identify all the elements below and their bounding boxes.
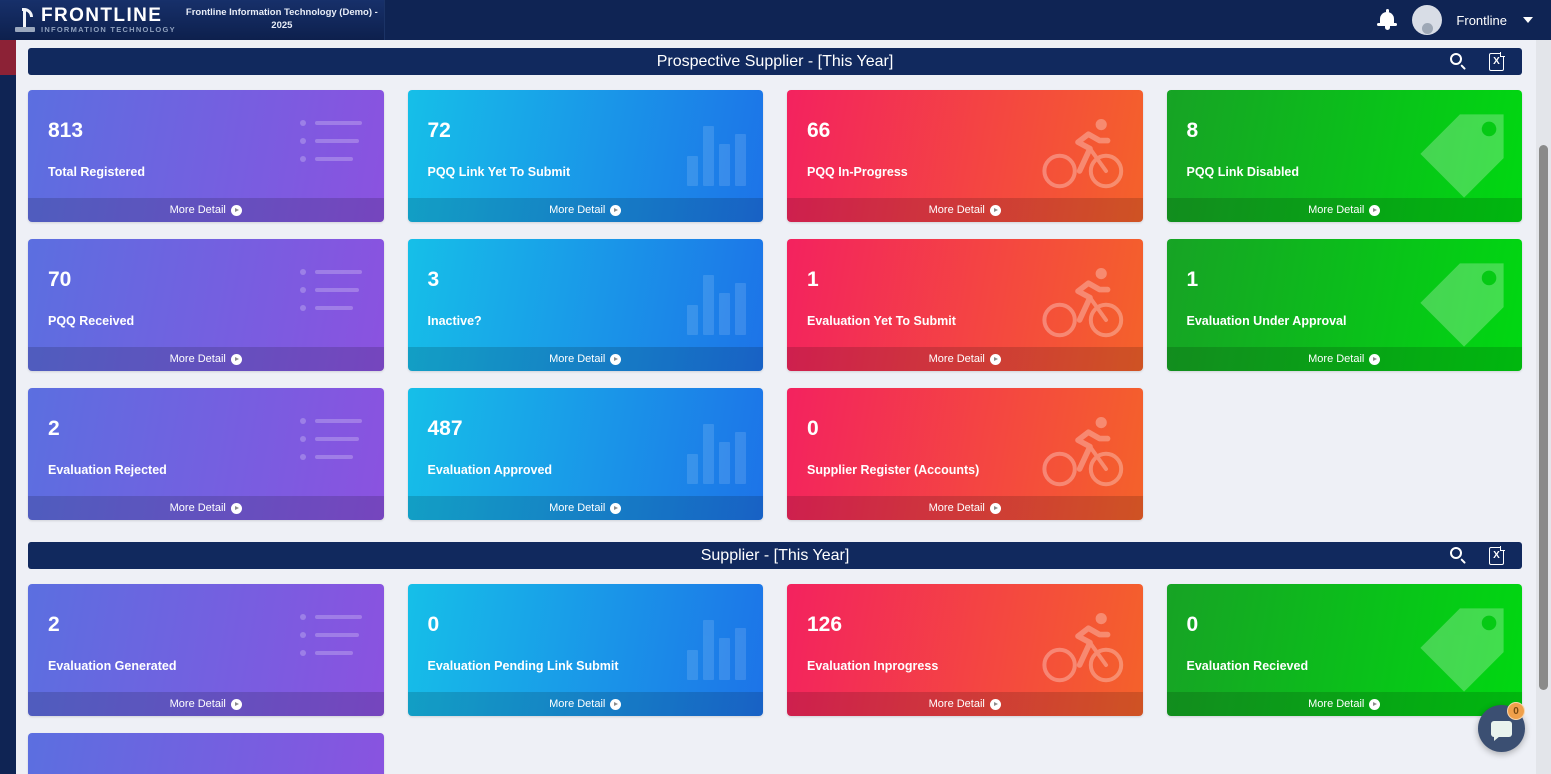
more-detail-button[interactable]: More Detail bbox=[787, 347, 1143, 371]
chat-bubble-icon bbox=[1491, 721, 1512, 737]
scrollbar-thumb[interactable] bbox=[1539, 145, 1548, 690]
arrow-right-icon bbox=[610, 354, 621, 365]
avatar[interactable] bbox=[1412, 5, 1442, 35]
logo-title: FRONTLINE bbox=[41, 6, 176, 25]
section-title: Prospective Supplier - [This Year] bbox=[28, 53, 1522, 71]
search-icon[interactable] bbox=[1450, 547, 1467, 564]
stat-card[interactable]: 1 Evaluation Under Approval More Detail bbox=[1167, 239, 1523, 371]
card-grid-prospective-supplier: 813 Total Registered More Detail 72 PQQ … bbox=[28, 90, 1522, 520]
arrow-right-icon bbox=[990, 205, 1001, 216]
stat-label: Evaluation Pending Link Submit bbox=[428, 660, 619, 673]
bar-chart-icon bbox=[687, 416, 747, 484]
user-name[interactable]: Frontline bbox=[1456, 13, 1507, 28]
arrow-right-icon bbox=[990, 354, 1001, 365]
more-detail-label: More Detail bbox=[549, 502, 605, 514]
more-detail-label: More Detail bbox=[929, 698, 985, 710]
brand-area: FRONTLINE INFORMATION TECHNOLOGY Frontli… bbox=[0, 0, 385, 40]
grid-empty-slot bbox=[1167, 388, 1523, 520]
stat-card[interactable]: 126 Evaluation Inprogress More Detail bbox=[787, 584, 1143, 716]
arrow-right-icon bbox=[610, 503, 621, 514]
bar-chart-icon bbox=[687, 118, 747, 186]
stat-label: Supplier Register (Accounts) bbox=[807, 464, 979, 477]
bicycle-icon bbox=[1039, 413, 1125, 493]
stat-value: 126 bbox=[807, 614, 842, 635]
more-detail-button[interactable]: More Detail bbox=[787, 692, 1143, 716]
company-title: Frontline Information Technology (Demo) … bbox=[182, 7, 382, 33]
stat-value: 813 bbox=[48, 120, 83, 141]
more-detail-button[interactable]: More Detail bbox=[28, 692, 384, 716]
arrow-right-icon bbox=[231, 699, 242, 710]
stat-value: 1 bbox=[807, 269, 819, 290]
more-detail-label: More Detail bbox=[549, 353, 605, 365]
stat-card[interactable]: 813 Total Registered More Detail bbox=[28, 90, 384, 222]
arrow-right-icon bbox=[231, 205, 242, 216]
section-tools: X bbox=[1450, 53, 1522, 71]
list-icon bbox=[300, 418, 362, 472]
stat-value: 72 bbox=[428, 120, 451, 141]
stat-card[interactable]: 72 PQQ Link Yet To Submit More Detail bbox=[408, 90, 764, 222]
top-navigation-bar: FRONTLINE INFORMATION TECHNOLOGY Frontli… bbox=[0, 0, 1551, 40]
chat-unread-badge: 0 bbox=[1507, 702, 1525, 720]
more-detail-label: More Detail bbox=[929, 204, 985, 216]
card-grid-supplier: 2 Evaluation Generated More Detail 0 Eva… bbox=[28, 584, 1522, 774]
stat-card[interactable]: 0 Evaluation Recieved More Detail bbox=[1167, 584, 1523, 716]
more-detail-label: More Detail bbox=[1308, 698, 1364, 710]
more-detail-label: More Detail bbox=[549, 204, 605, 216]
bicycle-icon bbox=[1039, 609, 1125, 689]
stat-value: 70 bbox=[48, 269, 71, 290]
list-icon bbox=[300, 269, 362, 323]
arrow-right-icon bbox=[990, 503, 1001, 514]
stat-label: Evaluation Recieved bbox=[1187, 660, 1309, 673]
dashboard-content: Prospective Supplier - [This Year] X 813… bbox=[16, 40, 1538, 774]
more-detail-button[interactable]: More Detail bbox=[1167, 198, 1523, 222]
stat-value: 2 bbox=[48, 614, 60, 635]
stat-card[interactable]: 8 PQQ Link Disabled More Detail bbox=[1167, 90, 1523, 222]
stat-value: 0 bbox=[428, 614, 440, 635]
bicycle-icon bbox=[1039, 115, 1125, 195]
arrow-right-icon bbox=[231, 503, 242, 514]
stat-label: PQQ Link Disabled bbox=[1187, 166, 1300, 179]
stat-card[interactable]: 0 Supplier Register (Accounts) More Deta… bbox=[787, 388, 1143, 520]
list-icon bbox=[300, 120, 362, 174]
arrow-right-icon bbox=[1369, 699, 1380, 710]
price-tag-icon bbox=[1410, 253, 1514, 357]
frontline-logo-icon bbox=[14, 7, 36, 33]
more-detail-button[interactable]: More Detail bbox=[408, 347, 764, 371]
section-header-prospective-supplier: Prospective Supplier - [This Year] X bbox=[28, 48, 1522, 75]
logo-text: FRONTLINE INFORMATION TECHNOLOGY bbox=[41, 6, 176, 34]
bar-chart-icon bbox=[687, 267, 747, 335]
main-content: Prospective Supplier - [This Year] X 813… bbox=[16, 40, 1538, 774]
sidebar-strip bbox=[0, 40, 16, 774]
more-detail-label: More Detail bbox=[929, 353, 985, 365]
arrow-right-icon bbox=[990, 699, 1001, 710]
excel-export-icon[interactable]: X bbox=[1489, 547, 1504, 565]
more-detail-label: More Detail bbox=[170, 502, 226, 514]
more-detail-button[interactable]: More Detail bbox=[408, 198, 764, 222]
stat-label: PQQ Received bbox=[48, 315, 134, 328]
more-detail-label: More Detail bbox=[170, 698, 226, 710]
stat-value: 8 bbox=[1187, 120, 1199, 141]
more-detail-label: More Detail bbox=[170, 204, 226, 216]
stat-label: Evaluation Inprogress bbox=[807, 660, 938, 673]
stat-card[interactable]: 3 Inactive? More Detail bbox=[408, 239, 764, 371]
stat-label: Evaluation Yet To Submit bbox=[807, 315, 956, 328]
arrow-right-icon bbox=[610, 699, 621, 710]
arrow-right-icon bbox=[1369, 205, 1380, 216]
more-detail-label: More Detail bbox=[929, 502, 985, 514]
logo-subtitle: INFORMATION TECHNOLOGY bbox=[41, 26, 176, 34]
stat-card[interactable]: 2 Evaluation Generated More Detail bbox=[28, 584, 384, 716]
stat-label: Evaluation Approved bbox=[428, 464, 553, 477]
price-tag-icon bbox=[1410, 104, 1514, 208]
more-detail-button[interactable]: More Detail bbox=[1167, 692, 1523, 716]
stat-value: 0 bbox=[807, 418, 819, 439]
stat-card[interactable]: 1 Evaluation Yet To Submit More Detail bbox=[787, 239, 1143, 371]
more-detail-label: More Detail bbox=[1308, 353, 1364, 365]
more-detail-label: More Detail bbox=[549, 698, 605, 710]
section-tools: X bbox=[1450, 547, 1522, 565]
sidebar-accent bbox=[0, 40, 16, 75]
topbar-actions: Frontline bbox=[1376, 5, 1551, 35]
stat-card[interactable]: 70 PQQ Received More Detail bbox=[28, 239, 384, 371]
more-detail-button[interactable]: More Detail bbox=[28, 496, 384, 520]
stat-card-partial[interactable] bbox=[28, 733, 384, 774]
more-detail-label: More Detail bbox=[170, 353, 226, 365]
more-detail-button[interactable]: More Detail bbox=[787, 496, 1143, 520]
more-detail-button[interactable]: More Detail bbox=[408, 496, 764, 520]
excel-export-icon[interactable]: X bbox=[1489, 53, 1504, 71]
section-header-supplier: Supplier - [This Year] X bbox=[28, 542, 1522, 569]
bell-icon[interactable] bbox=[1376, 9, 1398, 31]
more-detail-button[interactable]: More Detail bbox=[408, 692, 764, 716]
app-logo[interactable]: FRONTLINE INFORMATION TECHNOLOGY bbox=[0, 6, 176, 34]
search-icon[interactable] bbox=[1450, 53, 1467, 70]
stat-card[interactable]: 2 Evaluation Rejected More Detail bbox=[28, 388, 384, 520]
stat-value: 1 bbox=[1187, 269, 1199, 290]
stat-value: 66 bbox=[807, 120, 830, 141]
bicycle-icon bbox=[1039, 264, 1125, 344]
stat-card[interactable]: 66 PQQ In-Progress More Detail bbox=[787, 90, 1143, 222]
arrow-right-icon bbox=[1369, 354, 1380, 365]
stat-value: 0 bbox=[1187, 614, 1199, 635]
arrow-right-icon bbox=[231, 354, 242, 365]
chat-widget-button[interactable]: 0 bbox=[1478, 705, 1525, 752]
stat-label: Evaluation Under Approval bbox=[1187, 315, 1347, 328]
more-detail-button[interactable]: More Detail bbox=[787, 198, 1143, 222]
stat-card[interactable]: 487 Evaluation Approved More Detail bbox=[408, 388, 764, 520]
more-detail-button[interactable]: More Detail bbox=[28, 198, 384, 222]
price-tag-icon bbox=[1410, 598, 1514, 702]
stat-label: PQQ In-Progress bbox=[807, 166, 908, 179]
stat-label: Evaluation Rejected bbox=[48, 464, 167, 477]
stat-card[interactable]: 0 Evaluation Pending Link Submit More De… bbox=[408, 584, 764, 716]
stat-label: PQQ Link Yet To Submit bbox=[428, 166, 571, 179]
more-detail-label: More Detail bbox=[1308, 204, 1364, 216]
stat-value: 3 bbox=[428, 269, 440, 290]
list-icon bbox=[300, 614, 362, 668]
more-detail-button[interactable]: More Detail bbox=[28, 347, 384, 371]
stat-value: 487 bbox=[428, 418, 463, 439]
stat-label: Inactive? bbox=[428, 315, 482, 328]
vertical-scrollbar[interactable] bbox=[1536, 40, 1551, 774]
stat-label: Evaluation Generated bbox=[48, 660, 177, 673]
stat-label: Total Registered bbox=[48, 166, 145, 179]
section-title: Supplier - [This Year] bbox=[28, 547, 1522, 565]
bar-chart-icon bbox=[687, 612, 747, 680]
arrow-right-icon bbox=[610, 205, 621, 216]
more-detail-button[interactable]: More Detail bbox=[1167, 347, 1523, 371]
stat-value: 2 bbox=[48, 418, 60, 439]
chevron-down-icon[interactable] bbox=[1523, 17, 1533, 23]
